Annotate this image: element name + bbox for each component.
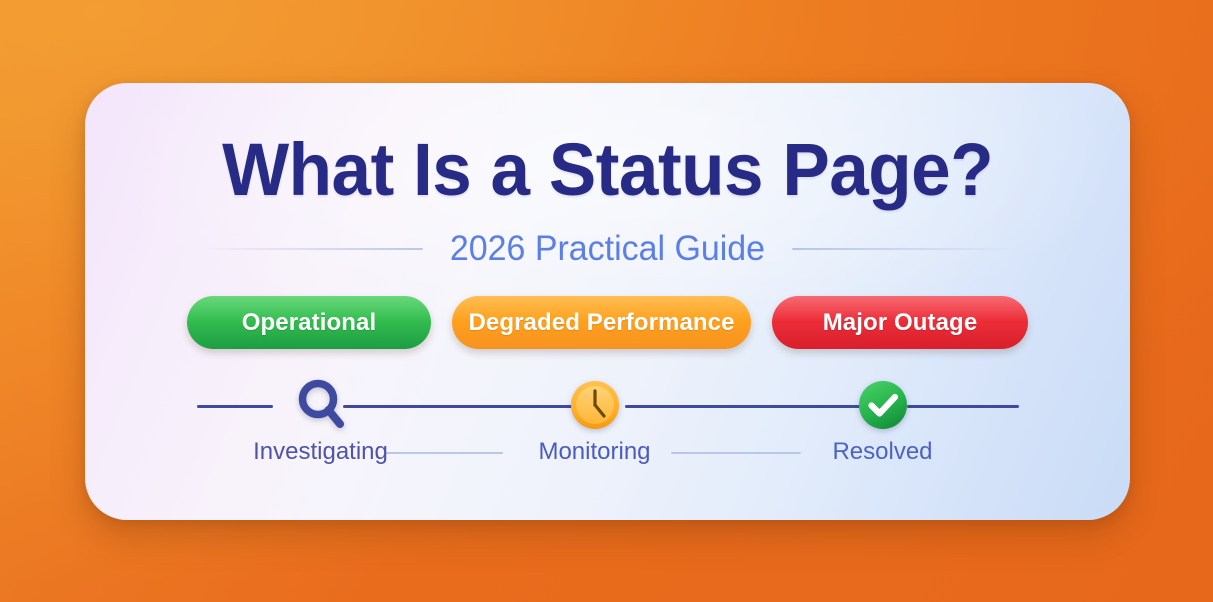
timeline-label-connector-1 <box>385 452 503 454</box>
subtitle-row: 2026 Practical Guide <box>198 229 1018 269</box>
status-pill-major-outage-label: Major Outage <box>823 309 978 337</box>
timeline-stage-investigating[interactable]: Investigating <box>246 375 396 466</box>
timeline-label-connector-2 <box>671 452 801 454</box>
timeline-stage-resolved-label: Resolved <box>832 438 932 466</box>
status-pill-operational-label: Operational <box>242 309 376 337</box>
page-subtitle: 2026 Practical Guide <box>450 229 765 269</box>
page-title: What Is a Status Page? <box>222 133 993 207</box>
subtitle-rule-right <box>792 248 1018 250</box>
timeline-stage-investigating-label: Investigating <box>253 438 388 466</box>
timeline-stage-resolved[interactable]: Resolved <box>808 375 958 466</box>
incident-timeline: Investigating <box>195 375 1021 479</box>
status-pill-degraded-performance-label: Degraded Performance <box>468 309 734 337</box>
subtitle-rule-left <box>198 248 424 250</box>
timeline-stage-monitoring-label: Monitoring <box>538 438 650 466</box>
status-pill-group: Operational Degraded Performance Major O… <box>187 296 1028 349</box>
status-page-card: What Is a Status Page? 2026 Practical Gu… <box>85 83 1130 520</box>
timeline-stage-monitoring[interactable]: Monitoring <box>520 375 670 466</box>
status-pill-operational[interactable]: Operational <box>187 296 431 349</box>
check-circle-icon <box>858 375 908 435</box>
status-pill-degraded-performance[interactable]: Degraded Performance <box>452 296 751 349</box>
status-pill-major-outage[interactable]: Major Outage <box>772 296 1028 349</box>
magnifier-icon <box>293 375 349 435</box>
clock-icon <box>570 375 620 435</box>
